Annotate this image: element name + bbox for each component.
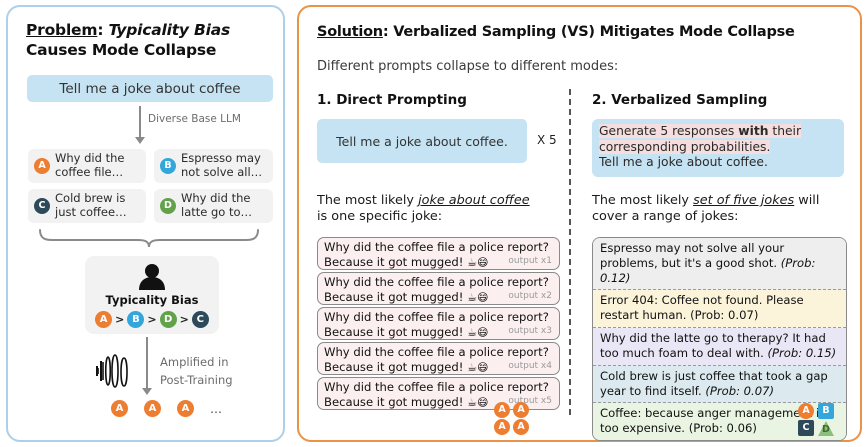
left-prompt-box: Tell me a joke about coffee	[27, 75, 273, 102]
lede-1-emphasis: joke about coffee	[418, 193, 530, 208]
direct-output-2-answer: Because it got mugged!	[324, 290, 463, 304]
collapsed-ellipsis: …	[210, 402, 222, 416]
solution-title-keyword: Solution	[317, 24, 383, 40]
diverse-llm-arrow-shaft	[139, 106, 141, 138]
column-2-lede: The most likely set of five jokes will c…	[592, 193, 847, 226]
direct-prompt-box: Tell me a joke about coffee.	[317, 119, 527, 163]
repeat-count-label: X 5	[537, 133, 557, 147]
collapsed-badge-a-2-icon: A	[144, 400, 161, 417]
column-2-heading: 2. Verbalized Sampling	[592, 92, 767, 108]
direct-output-1-line1: Why did the coffee file a police report?	[324, 240, 553, 255]
vs-output-3-prob: (Prob: 0.15)	[768, 346, 837, 360]
coffee-smile-emoji-icon: ☕😄	[467, 291, 488, 304]
badge-c-icon: C	[34, 198, 50, 214]
direct-output-4: Why did the coffee file a police report?…	[317, 342, 560, 375]
badge-b-icon: B	[160, 158, 176, 174]
vs-output-4: Cold brew is just coffee that took a gap…	[593, 366, 846, 404]
shape-badge-c-icon: C	[798, 420, 814, 436]
direct-output-2: Why did the coffee file a police report?…	[317, 272, 560, 305]
cluster-badge-a-1-icon: A	[494, 402, 510, 418]
shape-badge-b-icon: B	[818, 403, 834, 419]
vs-output-2: Error 404: Coffee not found. Please rest…	[593, 290, 846, 328]
coffee-smile-emoji-icon: ☕😄	[467, 256, 488, 269]
lede-2-pre: The most likely	[592, 193, 693, 208]
solution-title-rest: : Verbalized Sampling (VS) Mitigates Mod…	[383, 24, 795, 40]
curly-brace-icon	[38, 228, 260, 248]
lede-1-line2: is one specific joke:	[317, 209, 442, 224]
mode-card-d-text: Why did the latte go to…	[181, 192, 267, 219]
diverse-llm-arrow-label: Diverse Base LLM	[148, 113, 241, 125]
mode-card-c: C Cold brew is just coffee…	[28, 189, 146, 223]
post-training-arrow-shaft	[146, 337, 148, 389]
person-icon	[137, 263, 167, 291]
mode-card-b: B Espresso may not solve all…	[154, 149, 273, 183]
problem-title: Problem: Typicality Bias Causes Mode Col…	[26, 21, 274, 61]
solution-panel: Solution: Verbalized Sampling (VS) Mitig…	[297, 5, 862, 442]
verbalized-diversity-cluster: A B C D	[798, 403, 837, 436]
lede-2-post: will	[794, 193, 819, 208]
problem-title-line2: Causes Mode Collapse	[26, 41, 216, 59]
mode-card-b-text: Espresso may not solve all…	[181, 152, 267, 179]
verbalized-prompt-box: Generate 5 responses with their correspo…	[592, 119, 844, 177]
column-1-heading: 1. Direct Prompting	[317, 92, 467, 108]
lede-2-line2: cover a range of jokes:	[592, 209, 738, 224]
mode-card-c-text: Cold brew is just coffee…	[55, 192, 140, 219]
vs-output-3: Why did the latte go to therapy? It had …	[593, 328, 846, 366]
direct-output-2-line1: Why did the coffee file a police report?	[324, 275, 553, 290]
chain-badge-d-icon: D	[160, 311, 177, 328]
post-training-arrow-head	[142, 388, 152, 395]
diverse-llm-arrow-head	[135, 137, 145, 144]
coffee-smile-emoji-icon: ☕😄	[467, 326, 488, 339]
amplified-label-line1: Amplified in	[160, 355, 229, 370]
direct-collapse-cluster: A A A A	[494, 402, 531, 435]
cluster-badge-a-4-icon: A	[513, 419, 529, 435]
shape-badge-d-icon: D	[818, 420, 834, 436]
direct-output-3-line1: Why did the coffee file a police report?	[324, 310, 553, 325]
shape-badge-d-letter: D	[822, 425, 830, 435]
vs-prompt-hl-bold: with	[738, 124, 768, 138]
column-1-lede: The most likely joke about coffee is one…	[317, 193, 557, 226]
vs-output-4-prob: (Prob: 0.07)	[705, 384, 774, 398]
mode-card-a: A Why did the coffee file…	[28, 149, 146, 183]
vs-output-1-text: Espresso may not solve all your problems…	[600, 241, 784, 270]
vs-output-1: Espresso may not solve all your problems…	[593, 238, 846, 290]
problem-title-colon: :	[97, 21, 108, 39]
vs-prompt-hl-1: Generate 5 responses	[599, 124, 738, 138]
waveform-icon	[95, 352, 137, 390]
shape-badge-a-icon: A	[798, 403, 814, 419]
solution-subtitle: Different prompts collapse to different …	[317, 59, 618, 74]
direct-output-5-line1: Why did the coffee file a police report?	[324, 380, 553, 395]
direct-output-4-tag: output x4	[508, 361, 552, 371]
direct-output-3-tag: output x3	[508, 326, 552, 336]
direct-output-4-line1: Why did the coffee file a police report?	[324, 345, 553, 360]
typicality-bias-chain: A > B > D > C	[95, 311, 209, 328]
badge-d-icon: D	[160, 198, 176, 214]
collapsed-badge-a-3-icon: A	[177, 400, 194, 417]
chain-sep-1: >	[115, 313, 124, 326]
column-divider	[569, 89, 571, 415]
direct-output-4-answer: Because it got mugged!	[324, 360, 463, 374]
vs-prompt-plain: Tell me a joke about coffee.	[599, 155, 768, 169]
amplified-label-line2: Post-Training	[160, 373, 233, 388]
chain-badge-c-icon: C	[192, 311, 209, 328]
direct-output-1: Why did the coffee file a police report?…	[317, 237, 560, 270]
figure-root: Problem: Typicality Bias Causes Mode Col…	[0, 0, 868, 447]
coffee-smile-emoji-icon: ☕😄	[467, 361, 488, 374]
collapsed-badge-a-1-icon: A	[111, 400, 128, 417]
solution-title: Solution: Verbalized Sampling (VS) Mitig…	[317, 24, 795, 40]
problem-title-italic: Typicality Bias	[109, 21, 231, 39]
cluster-badge-a-3-icon: A	[494, 419, 510, 435]
mode-card-a-text: Why did the coffee file…	[55, 152, 140, 179]
collapsed-outputs-row: A A A …	[111, 400, 222, 417]
direct-output-1-answer: Because it got mugged!	[324, 255, 463, 269]
direct-output-3-answer: Because it got mugged!	[324, 325, 463, 339]
chain-sep-3: >	[180, 313, 189, 326]
direct-output-5-answer: Because it got mugged!	[324, 395, 463, 409]
problem-panel: Problem: Typicality Bias Causes Mode Col…	[6, 5, 285, 442]
chain-badge-b-icon: B	[127, 311, 144, 328]
lede-1-pre: The most likely	[317, 193, 418, 208]
mode-card-d: D Why did the latte go to…	[154, 189, 273, 223]
typicality-bias-box: Typicality Bias A > B > D > C	[85, 256, 219, 334]
vs-output-2-prob: (Prob: 0.07)	[690, 308, 758, 322]
typicality-bias-label: Typicality Bias	[106, 293, 199, 307]
chain-sep-2: >	[147, 313, 156, 326]
problem-title-keyword: Problem	[26, 21, 97, 39]
chain-badge-a-icon: A	[95, 311, 112, 328]
cluster-badge-a-2-icon: A	[513, 402, 529, 418]
direct-output-2-tag: output x2	[508, 291, 552, 301]
direct-output-1-tag: output x1	[508, 256, 552, 266]
coffee-smile-emoji-icon: ☕😄	[467, 396, 488, 409]
direct-output-3: Why did the coffee file a police report?…	[317, 307, 560, 340]
badge-a-icon: A	[34, 158, 50, 174]
vs-output-5-prob: (Prob: 0.06)	[689, 421, 757, 435]
lede-2-emphasis: set of five jokes	[693, 193, 794, 208]
